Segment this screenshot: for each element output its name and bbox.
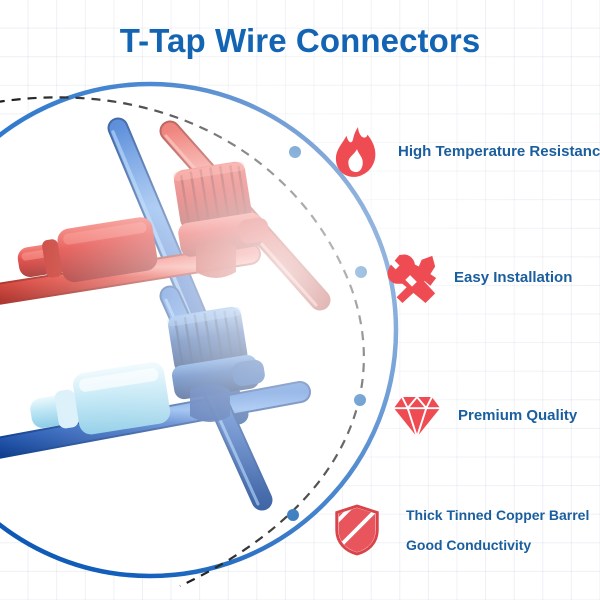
feature-label-line: Good Conductivity xyxy=(406,530,589,560)
feature-label-line: Premium Quality xyxy=(458,401,577,431)
blue-connector-jaw xyxy=(190,384,230,422)
feature-high-temperature-resistance: High Temperature Resistance xyxy=(330,125,600,179)
feature-labels: Thick Tinned Copper Barrel Good Conducti… xyxy=(406,500,589,560)
feature-label-line: High Temperature Resistance xyxy=(398,137,600,167)
red-connector-jaw xyxy=(196,240,236,278)
feature-thick-tinned-copper-barrel: Thick Tinned Copper Barrel Good Conducti… xyxy=(330,500,589,560)
diamond-icon xyxy=(390,389,444,443)
feature-premium-quality: Premium Quality xyxy=(390,389,577,443)
arc-node-dot xyxy=(287,509,299,521)
feature-label-line: Easy Installation xyxy=(454,263,572,293)
arc-node-dot xyxy=(354,394,366,406)
feature-labels: Premium Quality xyxy=(458,401,577,431)
flame-icon xyxy=(330,125,384,179)
shield-icon xyxy=(330,503,384,557)
feature-labels: High Temperature Resistance xyxy=(398,137,600,167)
feature-label-line: Thick Tinned Copper Barrel xyxy=(406,500,589,530)
page-title: T-Tap Wire Connectors xyxy=(0,22,600,60)
wrench-hammer-icon xyxy=(386,251,440,305)
feature-easy-installation: Easy Installation xyxy=(386,251,572,305)
arc-node-dot xyxy=(289,146,301,158)
feature-labels: Easy Installation xyxy=(454,263,572,293)
arc-node-dot xyxy=(355,266,367,278)
